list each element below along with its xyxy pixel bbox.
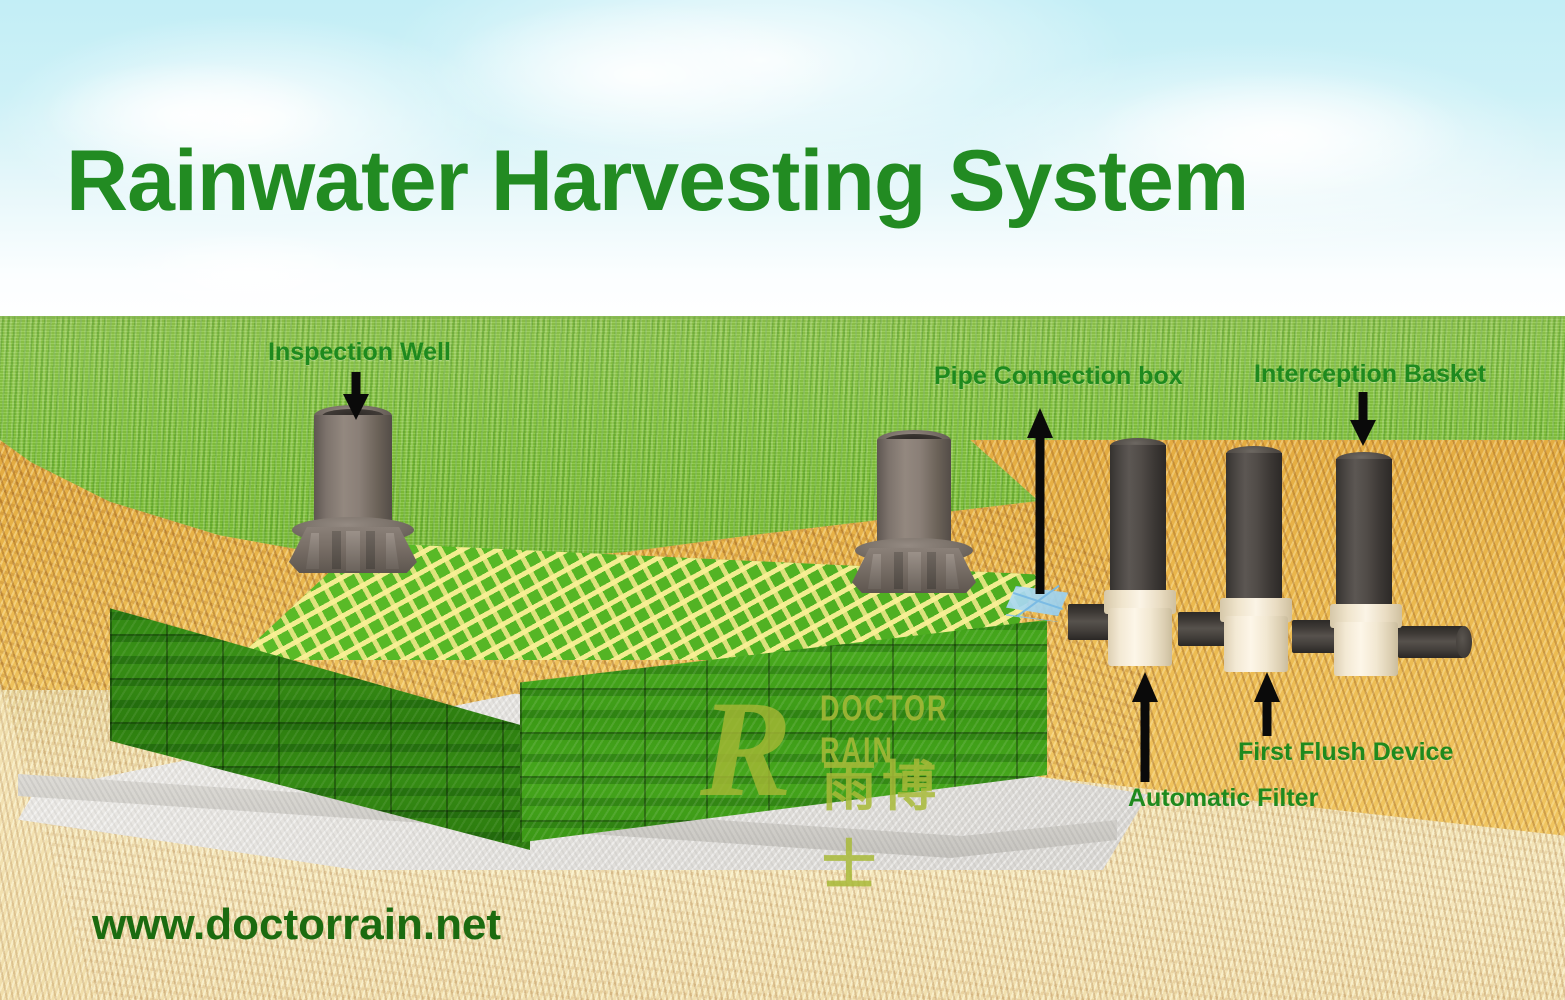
label-inspection-well: Inspection Well — [268, 338, 451, 367]
cloud-wisp — [120, 230, 380, 320]
well-rib — [894, 552, 903, 589]
arrow-automatic-filter — [1132, 672, 1158, 782]
well-rib — [908, 552, 921, 591]
filter-tee-body — [1108, 608, 1172, 666]
label-automatic-filter: Automatic Filter — [1128, 784, 1318, 813]
page-title: Rainwater Harvesting System — [66, 132, 1248, 231]
inspection-well-2[interactable] — [852, 430, 976, 598]
arrow-inspection-well — [343, 372, 369, 420]
well-rib — [346, 531, 360, 571]
filter-cylinder — [1110, 445, 1166, 597]
diagram-canvas: Rainwater Harvesting System R DOCTOR RAI… — [0, 0, 1565, 1000]
automatic-filter-unit[interactable] — [1104, 438, 1202, 668]
label-first-flush-device: First Flush Device — [1238, 738, 1453, 767]
label-interception-basket: Interception Basket — [1254, 360, 1486, 389]
arrow-pipe-connection-box — [1027, 408, 1053, 594]
arrow-first-flush-device — [1254, 672, 1280, 736]
basket-cylinder — [1336, 459, 1392, 611]
label-pipe-connection-box: Pipe Connection box — [934, 362, 1183, 391]
well-rib — [366, 531, 375, 569]
well-riser — [877, 439, 951, 553]
flush-tee-body — [1224, 616, 1288, 672]
flush-cylinder — [1226, 453, 1282, 605]
horizon-line — [0, 316, 1565, 320]
well-rib — [332, 531, 341, 569]
website-url: www.doctorrain.net — [92, 900, 501, 950]
inspection-well-1[interactable] — [288, 405, 418, 575]
basket-tee-body — [1334, 622, 1398, 676]
first-flush-device-unit[interactable] — [1220, 446, 1318, 672]
cloud-wisp — [430, 0, 850, 150]
arrow-interception-basket — [1350, 392, 1376, 448]
well-riser — [314, 415, 392, 533]
outlet-pipe-cap — [1456, 626, 1472, 658]
well-rib — [927, 552, 936, 589]
interception-basket-unit[interactable] — [1330, 452, 1428, 674]
